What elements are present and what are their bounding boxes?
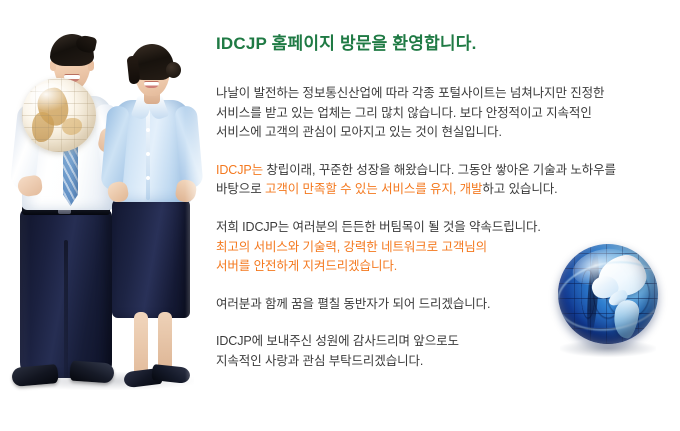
woman-smile <box>144 81 159 88</box>
body-text: 저희 IDCJP는 여러분의 든든한 버팀목이 될 것을 약속드립니다. <box>216 220 541 234</box>
body-text: 나날이 발전하는 정보통신산업에 따라 각종 포털사이트는 넘쳐나지만 진정한 <box>216 86 604 100</box>
page-root: IDCJP 홈페이지 방문을 환영합니다. 나날이 발전하는 정보통신산업에 따… <box>0 0 680 431</box>
woman-leg-left <box>134 312 148 378</box>
photo-edge-fade-right <box>185 0 215 431</box>
body-text: 서비스에 고객의 관심이 모아지고 있는 것이 현실입니다. <box>216 125 502 139</box>
text-line: 나날이 발전하는 정보통신산업에 따라 각종 포털사이트는 넘쳐나지만 진정한 <box>216 84 668 104</box>
business-couple-photo <box>0 0 215 431</box>
blue-globe-rim-shading <box>558 244 658 344</box>
man-shoe-right <box>69 360 114 383</box>
blue-3d-globe <box>552 240 664 364</box>
blue-globe-sphere <box>558 244 658 344</box>
woman-hair-bun <box>166 62 181 78</box>
body-text: 하고 있습니다. <box>482 182 557 196</box>
antique-globe <box>22 78 96 152</box>
woman-skirt <box>112 198 190 318</box>
text-line: 바탕으로 고객이 만족할 수 있는 서비스를 유지, 개발하고 있습니다. <box>216 180 668 200</box>
body-text: 서비스를 받고 있는 업체는 그리 많치 않습니다. 보다 안정적이고 지속적인 <box>216 106 592 120</box>
man-hair <box>50 34 94 66</box>
woman-blouse-button <box>146 128 150 132</box>
antique-globe-highlight <box>30 83 70 111</box>
man-shoe-left <box>11 364 58 387</box>
body-text: 여러분과 함께 꿈을 펼칠 동반자가 되어 드리겠습니다. <box>216 297 490 311</box>
woman-blouse-button <box>146 176 150 180</box>
photo-edge-fade-bottom <box>0 387 215 431</box>
page-title: IDCJP 홈페이지 방문을 환영합니다. <box>216 29 477 54</box>
highlighted-text: 최고의 서비스와 기술력, 강력한 네트워크로 고객님의 <box>216 240 487 254</box>
body-text: 지속적인 사랑과 관심 부탁드리겠습니다. <box>216 354 423 368</box>
highlighted-text: 서버를 안전하게 지켜드리겠습니다. <box>216 259 397 273</box>
woman-blouse-button <box>146 152 150 156</box>
text-line: 서비스를 받고 있는 업체는 그리 많치 않습니다. 보다 안정적이고 지속적인 <box>216 104 668 124</box>
text-line: 서비스에 고객의 관심이 모아지고 있는 것이 현실입니다. <box>216 123 668 143</box>
text-line: 저희 IDCJP는 여러분의 든든한 버팀목이 될 것을 약속드립니다. <box>216 218 668 238</box>
highlighted-text: IDCJP는 <box>216 163 263 177</box>
man-trousers <box>20 206 112 378</box>
body-text: 바탕으로 <box>216 182 265 196</box>
body-text: IDCJP에 보내주신 성원에 감사드리며 앞으로도 <box>216 334 459 348</box>
paragraph-2: IDCJP는 창립이래, 꾸준한 성장을 해왔습니다. 그동안 쌓아온 기술과 … <box>216 161 668 200</box>
text-line: IDCJP는 창립이래, 꾸준한 성장을 해왔습니다. 그동안 쌓아온 기술과 … <box>216 161 668 181</box>
body-text: 창립이래, 꾸준한 성장을 해왔습니다. 그동안 쌓아온 기술과 노하우를 <box>263 163 616 177</box>
highlighted-text: 고객이 만족할 수 있는 서비스를 유지, 개발 <box>265 182 482 196</box>
paragraph-1: 나날이 발전하는 정보통신산업에 따라 각종 포털사이트는 넘쳐나지만 진정한서… <box>216 84 668 143</box>
